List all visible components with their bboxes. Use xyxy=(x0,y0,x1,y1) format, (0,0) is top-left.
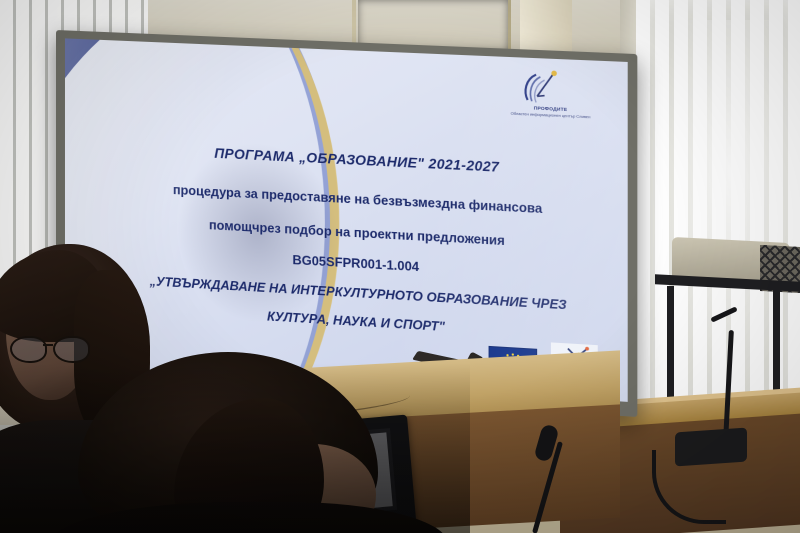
slide-line-1: ПРОГРАМА „ОБРАЗОВАНИЕ" 2021-2027 xyxy=(109,141,611,181)
star-swoosh-logo-icon xyxy=(521,69,580,107)
chair-leg-left xyxy=(667,286,674,406)
glasses-bridge xyxy=(43,344,53,346)
slide-line-2: процедура за предоставяне на безвъзмездн… xyxy=(109,180,611,220)
chair-leg-right xyxy=(773,286,780,406)
screenshot-scene: ПРОФОДИТЕ Областен информационен център … xyxy=(0,0,800,533)
glasses-lens-left xyxy=(10,336,47,363)
person-foreground xyxy=(78,352,398,533)
organization-logo: ПРОФОДИТЕ Областен информационен център … xyxy=(492,68,609,121)
